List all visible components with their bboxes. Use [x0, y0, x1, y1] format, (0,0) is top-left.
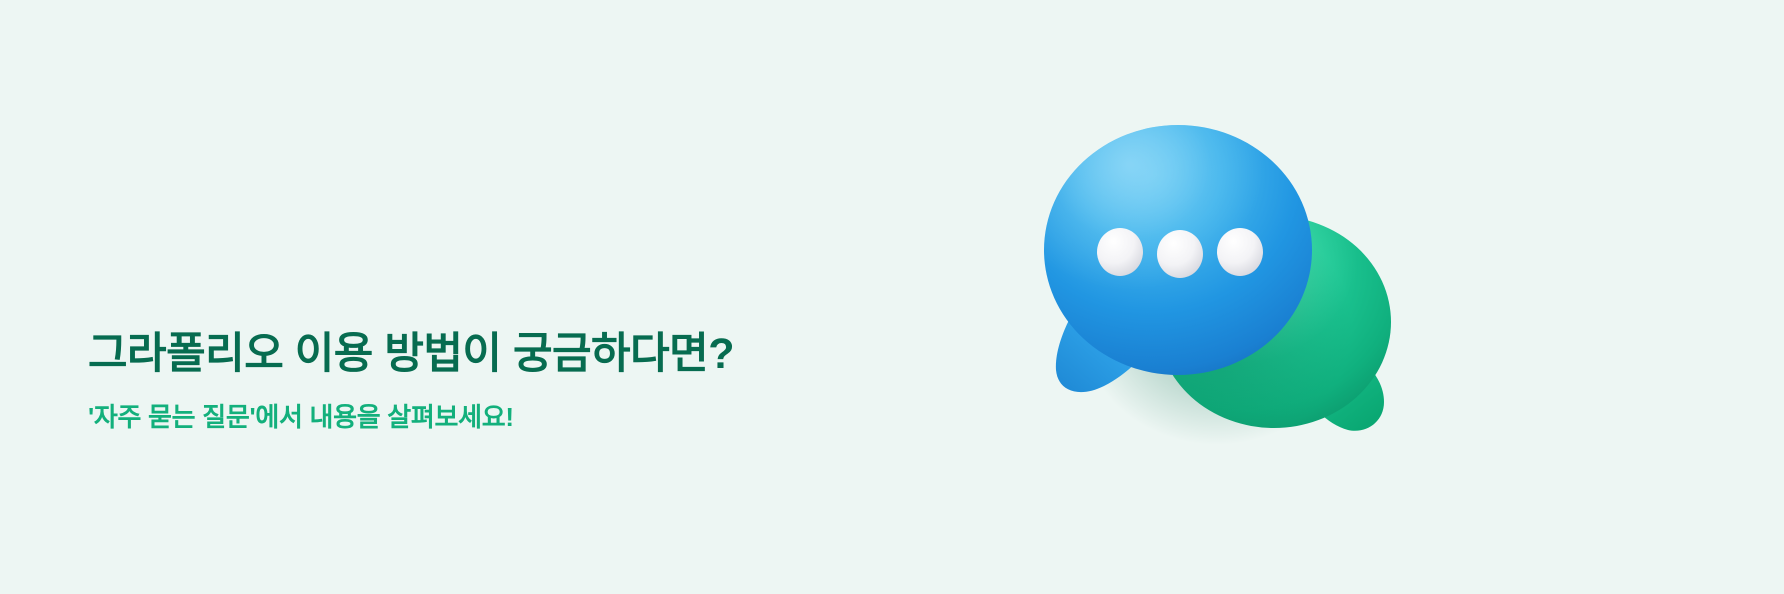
typing-dots: [1097, 228, 1263, 278]
faq-promo-banner: 그라폴리오 이용 방법이 궁금하다면? '자주 묻는 질문'에서 내용을 살펴보…: [0, 0, 1784, 594]
typing-dot: [1217, 228, 1263, 276]
chat-bubbles-illustration: [1012, 72, 1432, 452]
banner-text-block: 그라폴리오 이용 방법이 궁금하다면? '자주 묻는 질문'에서 내용을 살펴보…: [88, 330, 948, 433]
banner-subtitle: '자주 묻는 질문'에서 내용을 살펴보세요!: [88, 378, 948, 433]
typing-dot: [1157, 230, 1203, 278]
typing-dot: [1097, 228, 1143, 276]
page-title: 그라폴리오 이용 방법이 궁금하다면?: [88, 330, 948, 378]
